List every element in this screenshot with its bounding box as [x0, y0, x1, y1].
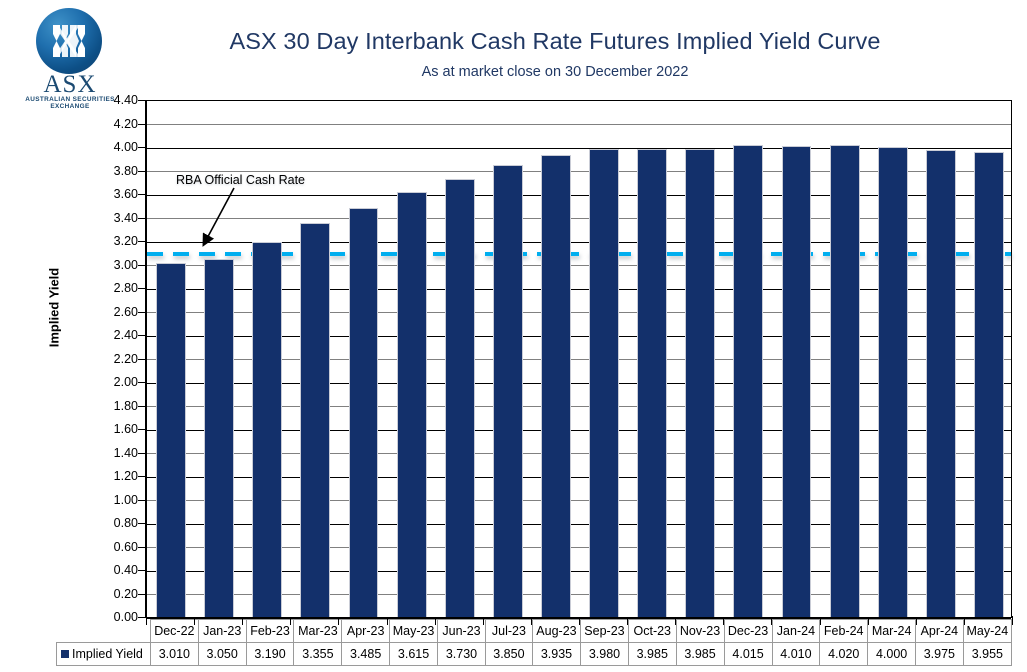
bar-dec-23	[733, 145, 763, 617]
data-table: Dec-22Jan-23Feb-23Mar-23Apr-23May-23Jun-…	[56, 619, 1012, 666]
y-axis-tick	[138, 359, 146, 360]
x-axis-tick	[387, 618, 388, 625]
table-header-cell: Dec-23	[724, 620, 772, 643]
y-axis-tick	[138, 453, 146, 454]
y-tick-label: 3.20	[92, 234, 138, 248]
asx-logo: ASX AUSTRALIAN SECURITIES EXCHANGE	[14, 6, 126, 98]
table-header-cell: Sep-23	[580, 620, 628, 643]
y-tick-label: 0.80	[92, 516, 138, 530]
y-tick-label: 1.20	[92, 469, 138, 483]
table-value-cell: 3.980	[580, 643, 628, 666]
table-value-cell: 3.975	[916, 643, 964, 666]
x-axis-tick	[771, 618, 772, 625]
table-header-cell: May-23	[389, 620, 437, 643]
bar-nov-23	[685, 149, 715, 617]
gridline	[147, 124, 1011, 125]
table-value-cell: 3.935	[532, 643, 580, 666]
x-axis-tick	[338, 618, 339, 625]
table-value-cell: 3.485	[342, 643, 390, 666]
table-value-cell: 3.190	[246, 643, 294, 666]
bar-dec-22	[156, 263, 186, 617]
bar-apr-24	[926, 150, 956, 617]
y-axis-tick	[138, 570, 146, 571]
bar-may-24	[974, 152, 1004, 617]
y-tick-label: 0.40	[92, 563, 138, 577]
table-header-cell: Jun-23	[438, 620, 486, 643]
y-tick-label: 2.40	[92, 328, 138, 342]
y-tick-label: 1.00	[92, 493, 138, 507]
rba-cash-rate-label: RBA Official Cash Rate	[176, 173, 305, 187]
y-axis-tick	[138, 476, 146, 477]
y-axis-tick	[138, 500, 146, 501]
bar-mar-24	[878, 147, 908, 617]
x-axis-tick	[483, 618, 484, 625]
legend-label: Implied Yield	[72, 647, 143, 661]
y-tick-label: 4.00	[92, 140, 138, 154]
table-header-cell: May-24	[963, 620, 1011, 643]
table-value-cell: 4.010	[772, 643, 820, 666]
x-axis-tick	[531, 618, 532, 625]
y-tick-label: 0.60	[92, 540, 138, 554]
table-header-cell: Nov-23	[676, 620, 724, 643]
y-axis-labels: 4.404.204.003.803.603.403.203.002.802.60…	[88, 100, 138, 618]
y-tick-label: 3.00	[92, 258, 138, 272]
bar-feb-23	[252, 242, 282, 617]
chart-subtitle: As at market close on 30 December 2022	[130, 64, 980, 80]
y-axis-tick	[138, 406, 146, 407]
y-tick-label: 2.20	[92, 352, 138, 366]
x-axis-tick	[146, 618, 147, 625]
y-axis-tick	[138, 288, 146, 289]
table-header-cell: Oct-23	[628, 620, 676, 643]
table-header-cell: Feb-24	[820, 620, 868, 643]
bar-jan-23	[204, 259, 234, 617]
table-header-cell: Apr-23	[342, 620, 390, 643]
chart-title: ASX 30 Day Interbank Cash Rate Futures I…	[130, 28, 980, 55]
y-axis-tick	[138, 429, 146, 430]
table-value-cell: 3.730	[438, 643, 486, 666]
bar-may-23	[397, 192, 427, 617]
x-axis-tick	[868, 618, 869, 625]
table-header-cell: Jan-24	[772, 620, 820, 643]
x-axis-tick	[916, 618, 917, 625]
bar-oct-23	[637, 149, 667, 617]
y-tick-label: 1.80	[92, 399, 138, 413]
table-header-cell: Jul-23	[485, 620, 532, 643]
y-tick-label: 4.40	[92, 93, 138, 107]
table-header-cell: Feb-23	[246, 620, 294, 643]
y-axis-tick	[138, 312, 146, 313]
x-axis-tick	[242, 618, 243, 625]
bar-mar-23	[300, 223, 330, 617]
table-value-cell: 3.985	[628, 643, 676, 666]
x-axis-tick	[290, 618, 291, 625]
table-row: Implied Yield 3.0103.0503.1903.3553.4853…	[57, 643, 1012, 666]
y-tick-label: 3.80	[92, 164, 138, 178]
table-value-cell: 3.850	[485, 643, 532, 666]
table-value-cell: 3.010	[150, 643, 198, 666]
bar-feb-24	[830, 145, 860, 617]
x-axis-tick	[194, 618, 195, 625]
y-axis-tick	[138, 547, 146, 548]
y-tick-label: 4.20	[92, 117, 138, 131]
table-value-cell: 3.615	[389, 643, 437, 666]
y-tick-label: 3.40	[92, 211, 138, 225]
legend-swatch-icon	[61, 650, 69, 658]
y-axis-tick	[138, 382, 146, 383]
x-axis-tick	[964, 618, 965, 625]
y-axis-tick	[138, 171, 146, 172]
table-header-cell: Mar-24	[868, 620, 916, 643]
bar-jul-23	[493, 165, 523, 617]
table-corner-cell	[57, 620, 151, 643]
y-axis-tick	[138, 124, 146, 125]
x-axis-tick	[675, 618, 676, 625]
y-axis-tick	[138, 241, 146, 242]
table-header-cell: Aug-23	[532, 620, 580, 643]
bar-aug-23	[541, 155, 571, 617]
table-value-cell: 3.050	[198, 643, 246, 666]
x-axis-tick	[579, 618, 580, 625]
y-axis-tick	[138, 194, 146, 195]
table-header-cell: Mar-23	[294, 620, 342, 643]
y-tick-label: 2.00	[92, 375, 138, 389]
table-header-cell: Jan-23	[198, 620, 246, 643]
y-tick-label: 0.20	[92, 587, 138, 601]
y-axis-tick	[138, 594, 146, 595]
x-axis-tick	[627, 618, 628, 625]
rba-annotation-arrow	[190, 186, 250, 256]
y-tick-label: 2.60	[92, 305, 138, 319]
table-header-cell: Dec-22	[150, 620, 198, 643]
legend-cell: Implied Yield	[57, 643, 151, 666]
table-value-cell: 4.000	[868, 643, 916, 666]
x-axis-tick	[723, 618, 724, 625]
y-axis-tick	[138, 523, 146, 524]
y-axis-tick	[138, 617, 146, 618]
y-tick-label: 3.60	[92, 187, 138, 201]
y-axis-tick	[138, 335, 146, 336]
table-value-cell: 4.020	[820, 643, 868, 666]
y-tick-label: 1.40	[92, 446, 138, 460]
y-tick-label: 1.60	[92, 422, 138, 436]
bar-apr-23	[349, 208, 379, 617]
table-value-cell: 4.015	[724, 643, 772, 666]
y-axis-title: Implied Yield	[47, 248, 62, 368]
table-value-cell: 3.355	[294, 643, 342, 666]
table-value-cell: 3.955	[963, 643, 1011, 666]
y-tick-label: 2.80	[92, 281, 138, 295]
table-header-cell: Apr-24	[916, 620, 964, 643]
bar-jan-24	[782, 146, 812, 617]
y-axis-tick	[138, 147, 146, 148]
x-axis-tick	[1012, 618, 1013, 625]
bar-jun-23	[445, 179, 475, 617]
x-axis-tick	[435, 618, 436, 625]
asx-logo-mark	[36, 8, 102, 74]
y-axis-tick	[138, 100, 146, 101]
y-axis-tick	[138, 218, 146, 219]
y-axis-tick	[138, 265, 146, 266]
bar-sep-23	[589, 149, 619, 617]
asx-logo-glyph	[36, 8, 102, 74]
table-value-cell: 3.985	[676, 643, 724, 666]
x-axis-tick	[820, 618, 821, 625]
